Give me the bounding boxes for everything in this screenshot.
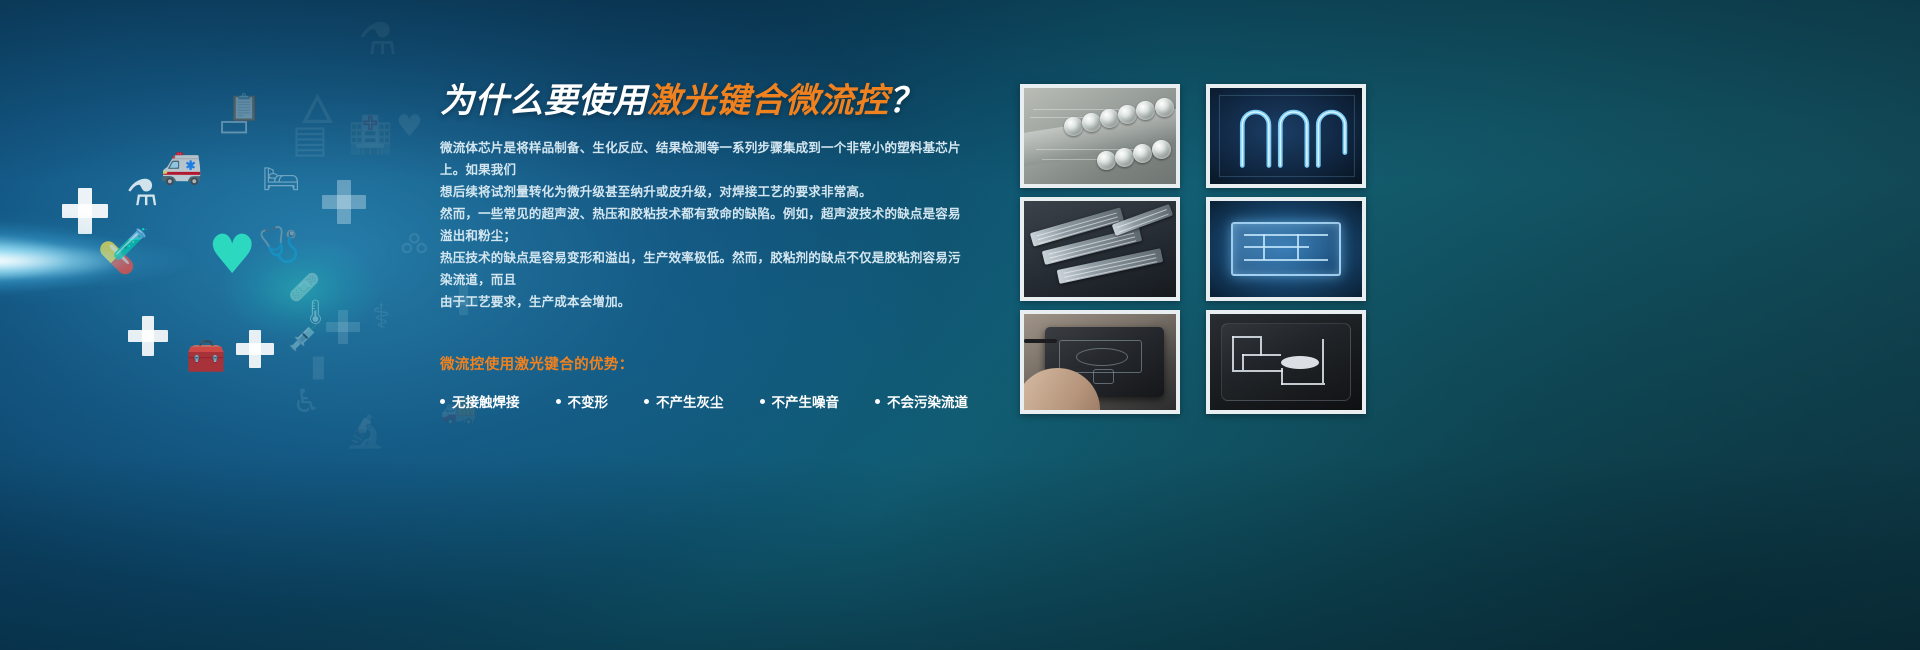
list-item: 不产生灰尘 xyxy=(644,391,724,411)
page-title: 为什么要使用激光键合微流控？ xyxy=(440,82,970,121)
list-item: 不会污染流道 xyxy=(875,391,968,411)
list-item: 不产生噪音 xyxy=(760,391,840,411)
list-item-label: 不会污染流道 xyxy=(887,391,968,411)
paragraph-line-1: 微流体芯片是将样品制备、生化反应、结果检测等一系列步骤集成到一个非常小的塑料基芯… xyxy=(440,137,970,181)
advantages-subheading: 微流控使用激光键合的优势： xyxy=(440,353,970,374)
headline-accent: 激光键合微流控 xyxy=(647,82,889,120)
bullet-dot-icon xyxy=(760,399,765,404)
product-gallery xyxy=(1020,84,1366,414)
gallery-image-black-cartridge-channels[interactable] xyxy=(1206,310,1366,414)
bullet-dot-icon xyxy=(556,399,561,404)
description-paragraph: 微流体芯片是将样品制备、生化反应、结果检测等一系列步骤集成到一个非常小的塑料基芯… xyxy=(440,137,970,313)
paragraph-line-5: 由于工艺要求，生产成本会增加。 xyxy=(440,291,970,313)
gallery-image-serpentine-channel-chip[interactable] xyxy=(1206,84,1366,188)
text-column: 为什么要使用激光键合微流控？ 微流体芯片是将样品制备、生化反应、结果检测等一系列… xyxy=(440,82,970,411)
paragraph-line-3: 然而，一些常见的超声波、热压和胶粘技术都有致命的缺陷。例如，超声波技术的缺点是容… xyxy=(440,203,970,247)
list-item-label: 不变形 xyxy=(568,391,609,411)
gallery-image-microfluidic-chip-lens-array[interactable] xyxy=(1020,84,1180,188)
bullet-dot-icon xyxy=(644,399,649,404)
list-item: 不变形 xyxy=(556,391,609,411)
bullet-dot-icon xyxy=(875,399,880,404)
headline-tail: ？ xyxy=(889,82,924,120)
list-item-label: 无接触焊接 xyxy=(452,391,520,411)
advantages-list: 无接触焊接 不变形 不产生灰尘 不产生噪音 不会污染流道 xyxy=(440,391,970,411)
gallery-image-handheld-black-cartridge[interactable] xyxy=(1020,310,1180,414)
list-item-label: 不产生灰尘 xyxy=(656,391,724,411)
paragraph-line-4: 热压技术的缺点是容易变形和溢出，生产效率极低。然而，胶粘剂的缺点不仅是胶粘剂容易… xyxy=(440,247,970,291)
list-item-label: 不产生噪音 xyxy=(772,391,840,411)
gallery-image-striped-microfluidic-cards[interactable] xyxy=(1020,197,1180,301)
gallery-image-blue-lit-manifold[interactable] xyxy=(1206,197,1366,301)
banner-content: 为什么要使用激光键合微流控？ 微流体芯片是将样品制备、生化反应、结果检测等一系列… xyxy=(0,0,1920,650)
headline-lead: 为什么要使用 xyxy=(440,82,647,120)
paragraph-line-2: 想后续将试剂量转化为微升级甚至纳升或皮升级，对焊接工艺的要求非常高。 xyxy=(440,181,970,203)
list-item: 无接触焊接 xyxy=(440,391,520,411)
bullet-dot-icon xyxy=(440,399,445,404)
